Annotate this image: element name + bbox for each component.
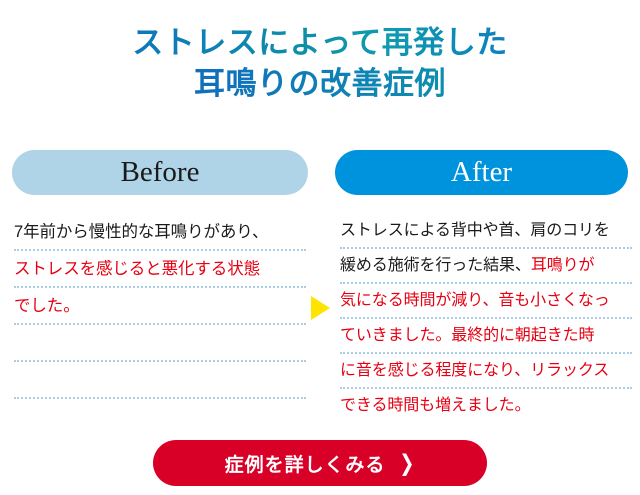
page-title-line-1: ストレスによって再発した (0, 22, 640, 63)
view-case-details-button[interactable]: 症例を詳しくみる ❯ (153, 440, 487, 486)
after-line-text: 気になる時間が減り、音も小さくなっ (340, 291, 610, 311)
before-line: ストレスを感じると悪化する状態 (14, 251, 306, 288)
before-line-text: 7年前から慢性的な耳鳴りがあり、 (14, 222, 268, 242)
page-title-line-2: 耳鳴りの改善症例 (0, 63, 640, 104)
before-line-empty (14, 325, 306, 362)
after-line: に音を感じる程度になり、リラックス (340, 354, 632, 389)
after-line-text: ていきました。最終的に朝起きた時 (340, 326, 594, 346)
after-line-text: できる時間も増えました。 (340, 396, 530, 416)
after-line-text-mixed: 緩める施術を行った結果、耳鳴りが (340, 256, 594, 276)
column-header-before-label: Before (121, 158, 200, 187)
column-header-after-label: After (451, 158, 512, 187)
before-text-column: 7年前から慢性的な耳鳴りがあり、 ストレスを感じると悪化する状態 でした。 (14, 214, 306, 399)
before-line: でした。 (14, 288, 306, 325)
after-line: できる時間も増えました。 (340, 389, 632, 422)
after-line-text: に音を感じる程度になり、リラックス (340, 361, 609, 381)
before-line-text: ストレスを感じると悪化する状態 (14, 259, 260, 279)
after-line: 気になる時間が減り、音も小さくなっ (340, 284, 632, 319)
after-line-text-red: 耳鳴りが (531, 257, 595, 274)
after-line-text: ストレスによる背中や首、肩のコリを (340, 221, 610, 241)
page-title: ストレスによって再発した 耳鳴りの改善症例 (0, 22, 640, 104)
column-header-before: Before (12, 150, 308, 195)
column-header-after: After (335, 150, 628, 195)
after-line: ていきました。最終的に朝起きた時 (340, 319, 632, 354)
chevron-right-icon: ❯ (399, 452, 415, 475)
before-line-empty (14, 362, 306, 399)
after-text-column: ストレスによる背中や首、肩のコリを 緩める施術を行った結果、耳鳴りが 気になる時… (340, 214, 632, 422)
case-study-card: ストレスによって再発した 耳鳴りの改善症例 Before After 7年前から… (0, 0, 640, 495)
after-line: ストレスによる背中や首、肩のコリを (340, 214, 632, 249)
after-line-text-black: 緩める施術を行った結果、 (340, 257, 531, 274)
view-case-details-label: 症例を詳しくみる (225, 450, 386, 477)
after-line: 緩める施術を行った結果、耳鳴りが (340, 249, 632, 284)
before-line: 7年前から慢性的な耳鳴りがあり、 (14, 214, 306, 251)
before-line-text: でした。 (14, 296, 80, 316)
right-arrow-icon (311, 296, 330, 320)
